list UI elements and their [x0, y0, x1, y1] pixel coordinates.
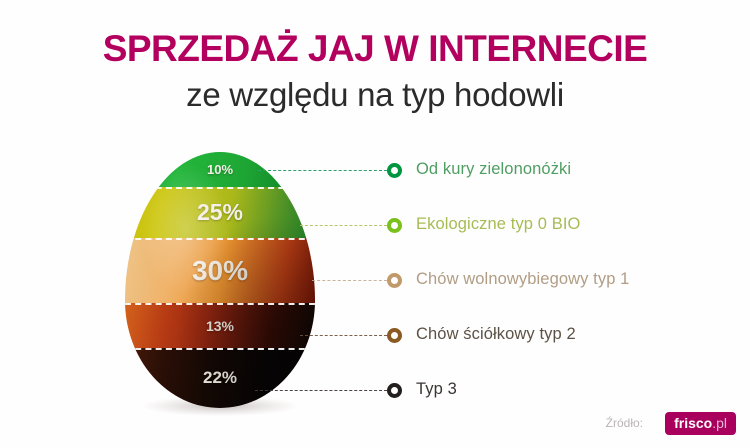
egg-divider-1	[125, 238, 315, 240]
legend-connector-2	[312, 280, 387, 281]
legend-connector-4	[255, 390, 387, 391]
page-subtitle: ze względu na typ hodowli	[0, 76, 750, 114]
legend-marker-1[interactable]	[387, 218, 402, 233]
egg-segment-4[interactable]: 22%	[125, 348, 315, 408]
page-title: SPRZEDAŻ JAJ W INTERNECIE	[0, 28, 750, 70]
legend-label-0[interactable]: Od kury zielononóżki	[416, 160, 571, 179]
legend-label-1[interactable]: Ekologiczne typ 0 BIO	[416, 215, 580, 234]
legend-marker-0[interactable]	[387, 163, 402, 178]
egg-chart: 10% 25% 30% 13% 22%	[125, 152, 315, 408]
legend-label-3[interactable]: Chów ściółkowy typ 2	[416, 325, 576, 344]
egg-segment-3[interactable]: 13%	[125, 303, 315, 348]
egg-segment-1[interactable]: 25%	[125, 187, 315, 238]
legend-marker-4[interactable]	[387, 383, 402, 398]
egg-segment-2[interactable]: 30%	[125, 238, 315, 303]
egg-divider-3	[125, 348, 315, 350]
legend-label-4[interactable]: Typ 3	[416, 380, 457, 399]
legend-connector-3	[300, 335, 387, 336]
egg-divider-2	[125, 303, 315, 305]
legend-connector-1	[300, 225, 387, 226]
brand-name: frisco	[674, 415, 712, 431]
egg-segment-2-value: 30%	[192, 255, 248, 287]
legend-marker-3[interactable]	[387, 328, 402, 343]
egg-segment-0-value: 10%	[207, 162, 233, 177]
infographic-canvas: SPRZEDAŻ JAJ W INTERNECIE ze względu na …	[0, 0, 750, 448]
brand-badge[interactable]: frisco.pl	[665, 412, 736, 435]
legend-connector-0	[258, 170, 387, 171]
egg-segment-3-value: 13%	[206, 318, 234, 334]
egg-segment-4-value: 22%	[203, 368, 237, 388]
legend-marker-2[interactable]	[387, 273, 402, 288]
egg-body: 10% 25% 30% 13% 22%	[125, 152, 315, 408]
brand-tld: .pl	[712, 415, 727, 431]
egg-divider-0	[125, 187, 315, 189]
legend-label-2[interactable]: Chów wolnowybiegowy typ 1	[416, 270, 629, 289]
egg-segment-1-value: 25%	[197, 199, 243, 226]
source-label: Źródło:	[606, 416, 643, 430]
